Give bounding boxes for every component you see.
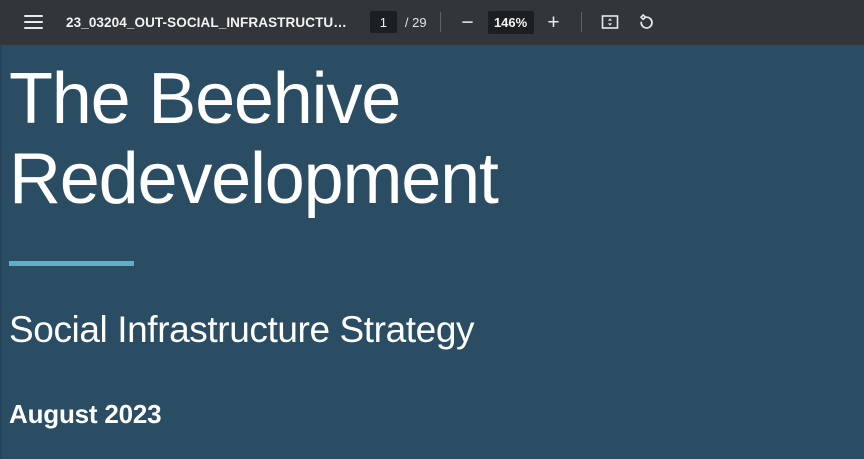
toolbar-divider-1 bbox=[440, 12, 441, 32]
accent-rule bbox=[9, 261, 134, 266]
toolbar-divider-2 bbox=[581, 12, 582, 32]
view-controls bbox=[595, 7, 661, 37]
fit-to-page-button[interactable] bbox=[595, 7, 625, 37]
hamburger-menu-button[interactable] bbox=[18, 7, 48, 37]
rotate-counterclockwise-button[interactable] bbox=[631, 7, 661, 37]
pdf-viewer-toolbar: 23_03204_OUT-SOCIAL_INFRASTRUCTU… / 29 −… bbox=[0, 0, 864, 45]
page-left-edge bbox=[0, 45, 2, 459]
hamburger-menu-icon bbox=[24, 15, 43, 29]
cover-date: August 2023 bbox=[9, 398, 864, 430]
page-number-input[interactable] bbox=[370, 11, 397, 33]
document-title: 23_03204_OUT-SOCIAL_INFRASTRUCTU… bbox=[66, 15, 347, 30]
minus-icon: − bbox=[461, 12, 473, 33]
page-count-label: / 29 bbox=[405, 15, 427, 30]
fit-to-page-icon bbox=[601, 13, 619, 31]
rotate-counterclockwise-icon bbox=[636, 12, 656, 32]
page-navigation: / 29 bbox=[370, 11, 427, 33]
cover-content: The Beehive Redevelopment Social Infrast… bbox=[9, 45, 864, 430]
zoom-in-button[interactable]: + bbox=[540, 8, 568, 36]
cover-title: The Beehive Redevelopment bbox=[9, 59, 864, 219]
cover-subtitle: Social Infrastructure Strategy bbox=[9, 308, 864, 352]
plus-icon: + bbox=[547, 12, 559, 33]
pdf-page-canvas: The Beehive Redevelopment Social Infrast… bbox=[0, 45, 864, 459]
zoom-controls: − 146% + bbox=[454, 8, 568, 36]
zoom-level-display[interactable]: 146% bbox=[488, 11, 534, 34]
zoom-out-button[interactable]: − bbox=[454, 8, 482, 36]
